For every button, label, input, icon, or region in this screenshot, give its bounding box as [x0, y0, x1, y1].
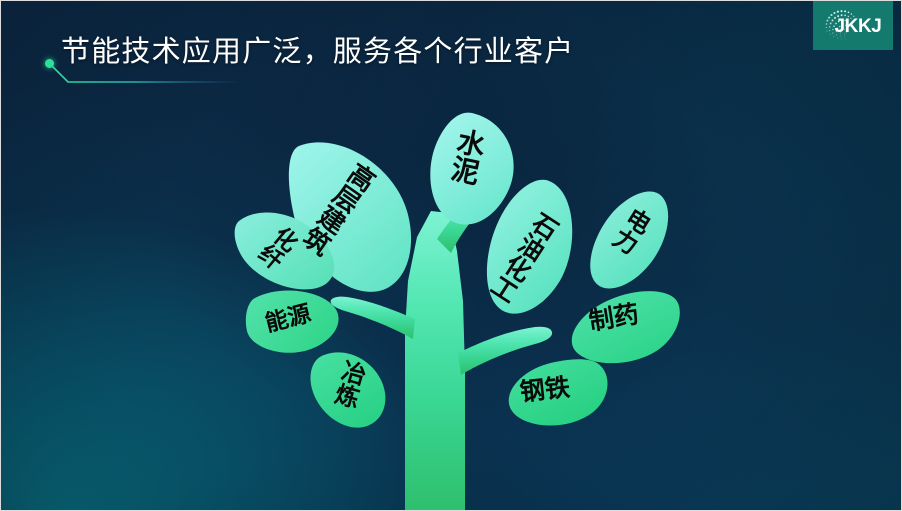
- leaf-energy: [246, 291, 339, 353]
- leaf-smelting: [310, 352, 385, 427]
- leaf-electric-power: [590, 191, 668, 288]
- page-title: 节能技术应用广泛，服务各个行业客户: [61, 38, 574, 67]
- leaf-cement: [430, 113, 513, 225]
- leaf-pharmaceutical: [572, 291, 680, 363]
- slide-canvas: 节能技术应用广泛，服务各个行业客户: [0, 0, 902, 511]
- brand-logo[interactable]: JKKJ: [813, 1, 893, 50]
- page-title-text: 节能技术应用广泛，服务各个行业客户: [61, 38, 574, 67]
- industry-tree-graphic: [1, 1, 902, 511]
- logo-wordmark: JKKJ: [835, 16, 882, 37]
- leaf-steel: [509, 359, 608, 425]
- title-accent-dot: [45, 59, 54, 68]
